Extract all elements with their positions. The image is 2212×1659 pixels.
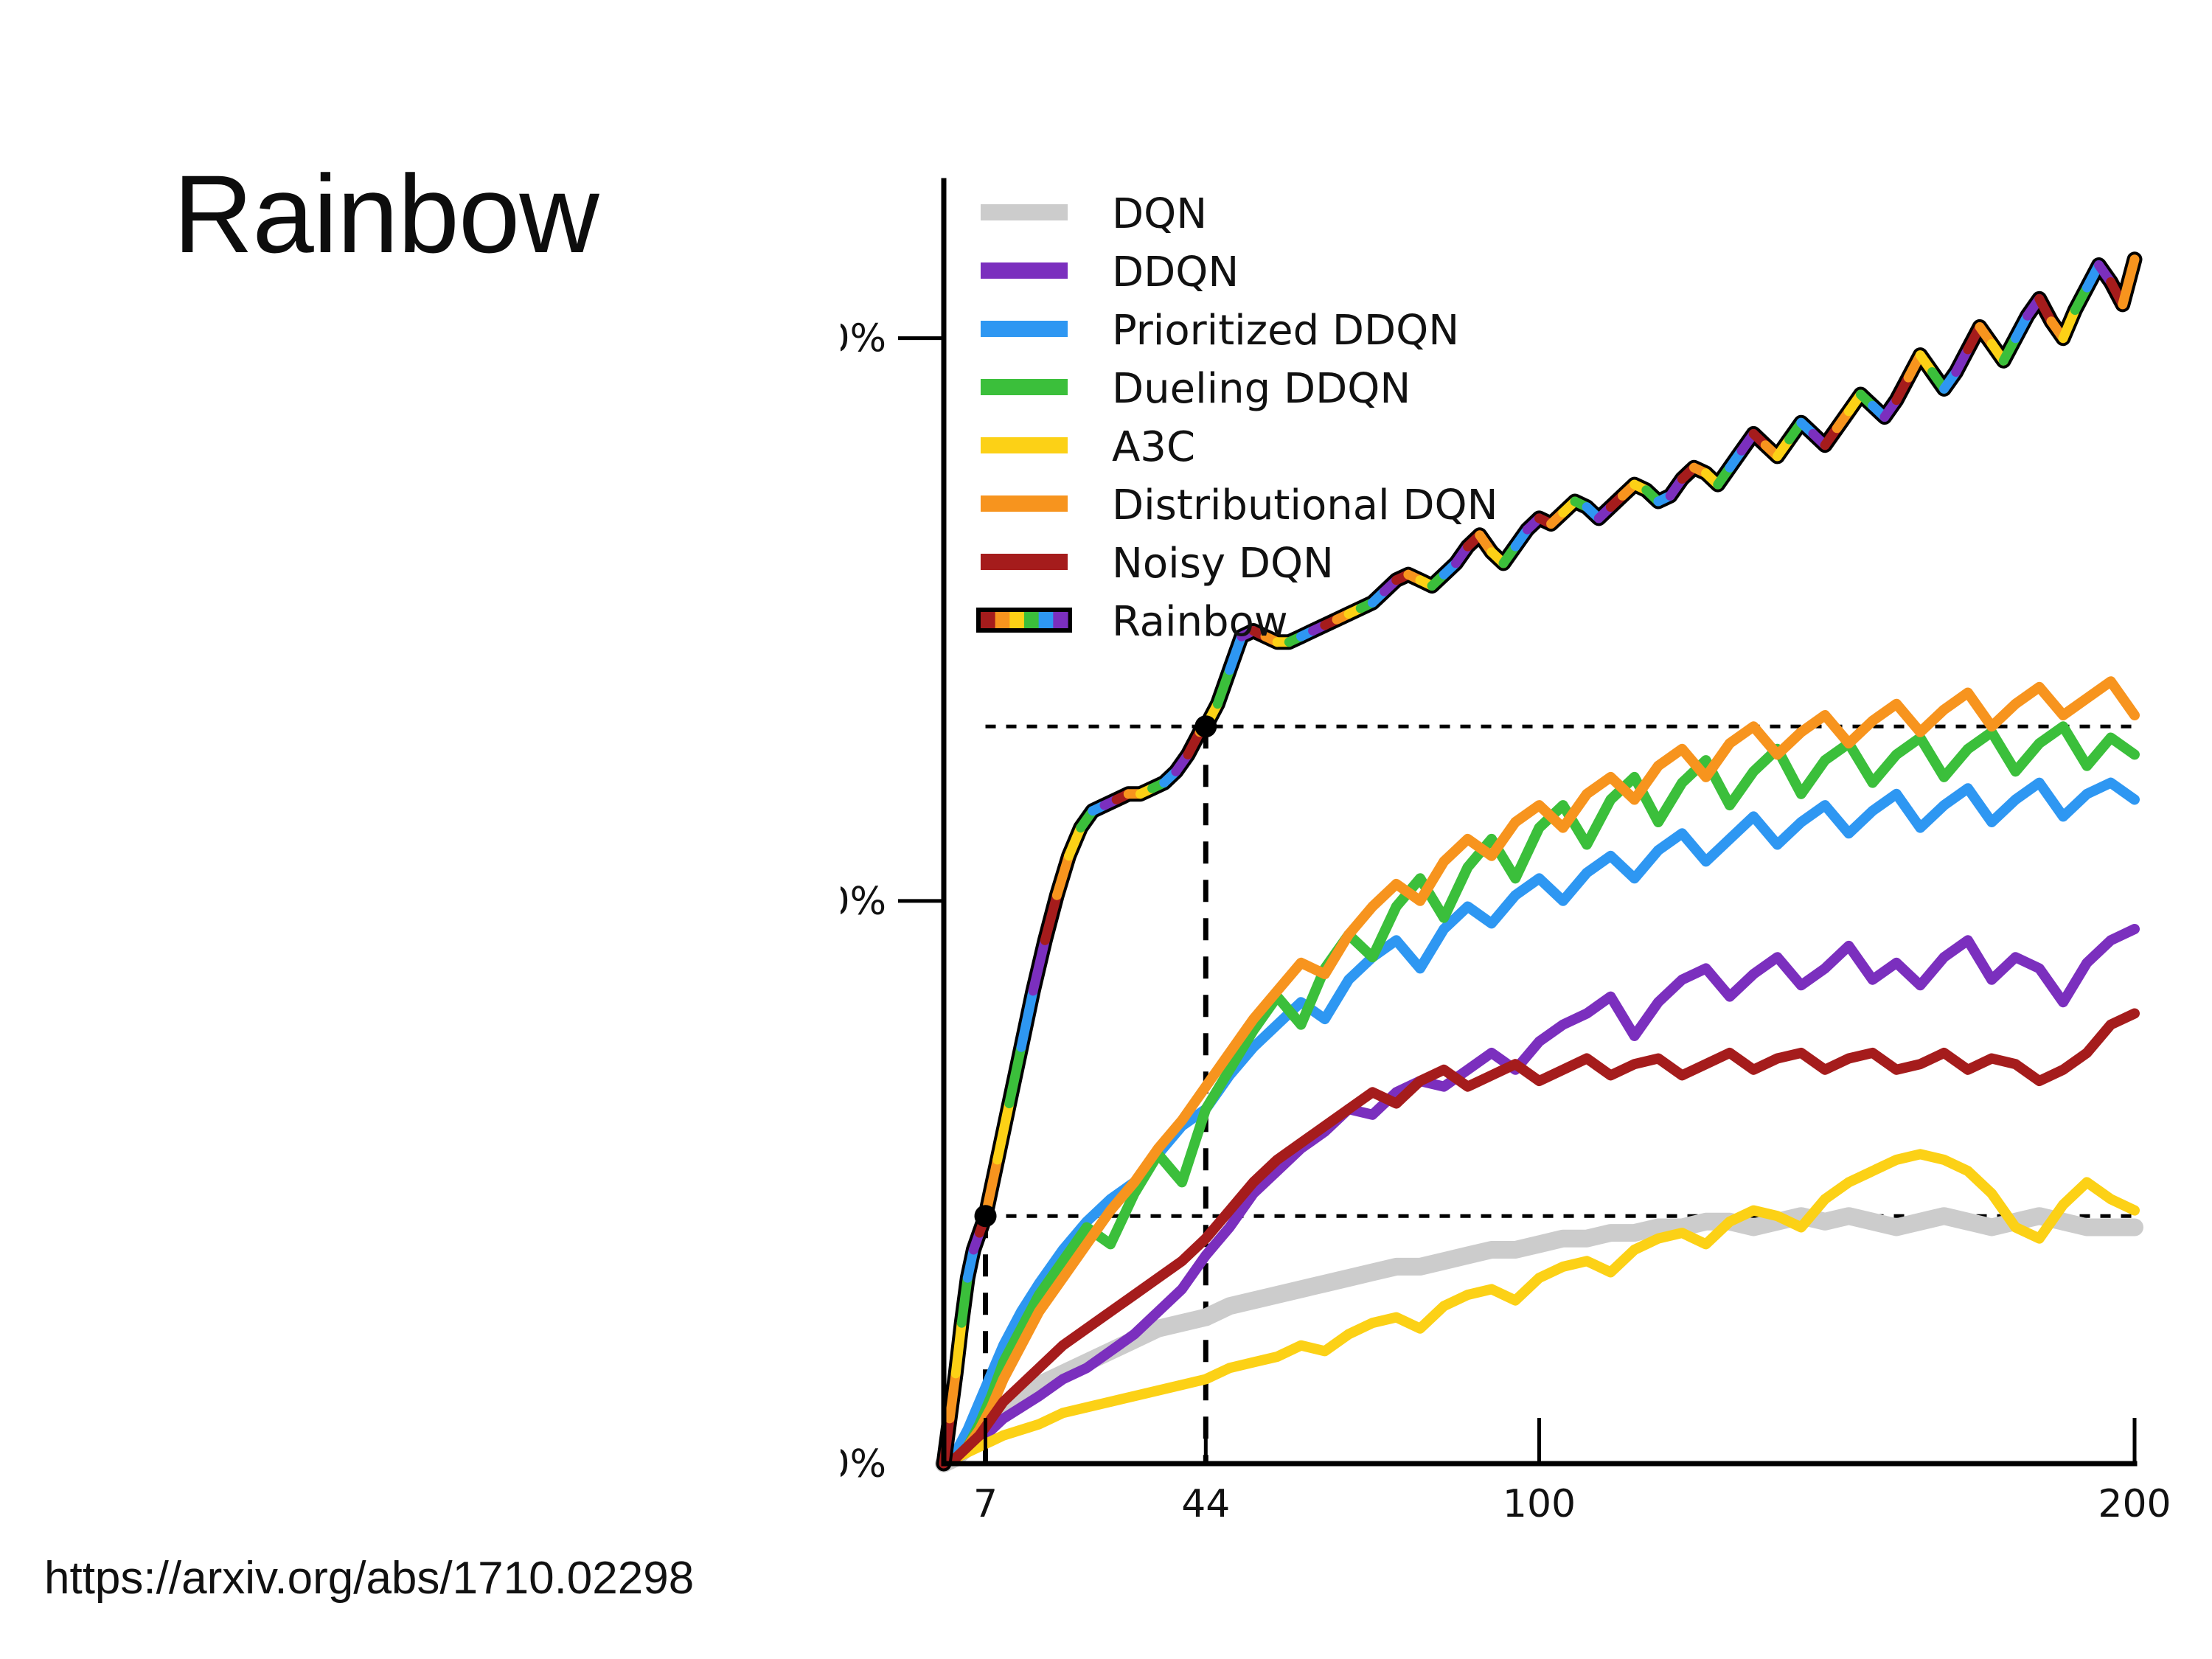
- series-line-rainbow-segment: [1217, 670, 1229, 704]
- legend-swatch-segment: [1039, 612, 1054, 628]
- chart-canvas: 0%100%200%744100200Millions of framesMed…: [841, 170, 2190, 1548]
- series-line-rainbow-segment: [1033, 940, 1045, 991]
- legend-label: Prioritized DDQN: [1112, 307, 1459, 355]
- page-title: Rainbow: [173, 159, 599, 269]
- legend-swatch: [981, 321, 1068, 337]
- legend-swatch-segment: [995, 612, 1010, 628]
- legend-swatch: [981, 204, 1068, 220]
- series-line-rainbow-segment: [1057, 856, 1068, 895]
- x-tick-label: 7: [973, 1482, 998, 1526]
- legend-swatch-segment: [1024, 612, 1039, 628]
- legend-label: A3C: [1112, 423, 1195, 471]
- legend-item-a3c[interactable]: A3C: [981, 423, 1195, 471]
- source-url-text: https://arxiv.org/abs/1710.02298: [44, 1552, 694, 1604]
- legend-swatch-segment: [1053, 612, 1068, 628]
- legend-swatch: [981, 437, 1068, 453]
- legend-swatch: [981, 495, 1068, 512]
- legend-label: Distributional DQN: [1112, 481, 1498, 529]
- marker-rainbow-7-frames: [975, 1205, 997, 1227]
- x-axis-title: Millions of frames: [1419, 1545, 1770, 1548]
- legend-item-dueling-ddqn[interactable]: Dueling DDQN: [981, 365, 1411, 413]
- legend-label: Noisy DQN: [1112, 540, 1334, 588]
- legend-swatch-segment: [1009, 612, 1024, 628]
- x-tick-label: 100: [1503, 1482, 1576, 1526]
- legend-item-dqn[interactable]: DQN: [981, 190, 1207, 238]
- annotation-markers-layer: [975, 715, 1217, 1227]
- series-line-rainbow-segment: [956, 1323, 961, 1374]
- series-line-rainbow-segment: [961, 1278, 967, 1323]
- series-line-rainbow-segment: [1045, 895, 1057, 940]
- y-tick-label: 100%: [841, 880, 886, 924]
- legend-swatch: [981, 262, 1068, 279]
- legend-label: Rainbow: [1112, 598, 1288, 646]
- x-tick-label: 200: [2098, 1482, 2171, 1526]
- series-line-rainbow-segment: [998, 1104, 1009, 1160]
- series-line-rainbow-segment: [1021, 991, 1033, 1047]
- legend-label: Dueling DDQN: [1112, 365, 1411, 413]
- series-line-rainbow-segment: [1009, 1047, 1021, 1103]
- legend-label: DDQN: [1112, 248, 1239, 296]
- marker-rainbow-44-frames: [1194, 715, 1217, 737]
- legend-label: DQN: [1112, 190, 1207, 238]
- x-tick-label: 44: [1181, 1482, 1230, 1526]
- series-line-prioritized-ddqn: [944, 783, 2135, 1464]
- annotation-guides-layer: [986, 726, 2135, 1464]
- rainbow-performance-chart: 0%100%200%744100200Millions of framesMed…: [841, 170, 2190, 1548]
- legend-item-ddqn[interactable]: DDQN: [981, 248, 1239, 296]
- y-tick-label: 200%: [841, 317, 886, 361]
- series-line-rainbow-segment: [950, 1374, 956, 1419]
- legend-swatch: [981, 554, 1068, 570]
- series-line-rainbow-segment: [2123, 260, 2135, 305]
- legend-item-rainbow[interactable]: Rainbow: [976, 598, 1288, 646]
- legend-item-distributional-dqn[interactable]: Distributional DQN: [981, 481, 1498, 529]
- legend-swatch: [981, 379, 1068, 395]
- legend-item-prioritized-ddqn[interactable]: Prioritized DDQN: [981, 307, 1459, 355]
- y-tick-label: 0%: [841, 1442, 886, 1486]
- legend-swatch-segment: [981, 612, 995, 628]
- legend-item-noisy-dqn[interactable]: Noisy DQN: [981, 540, 1334, 588]
